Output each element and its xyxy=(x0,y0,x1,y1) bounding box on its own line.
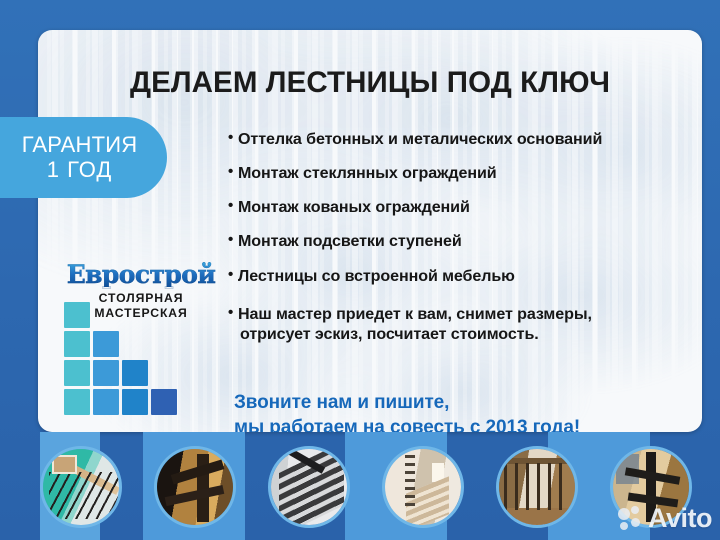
gallery-photo[interactable] xyxy=(382,446,464,528)
gallery-photo[interactable] xyxy=(154,446,236,528)
guarantee-badge-line1: ГАРАНТИЯ xyxy=(22,133,138,158)
advertisement-poster: ДЕЛАЕМ ЛЕСТНИЦЫ ПОД КЛЮЧ Оттелка бетонны… xyxy=(0,0,720,540)
call-to-action-line2: мы работаем на совесть с 2013 года! xyxy=(234,415,702,432)
list-item: Монтаж кованых ограждений xyxy=(228,198,698,218)
company-logo: Еврострой СТОЛЯРНАЯ МАСТЕРСКАЯ xyxy=(46,262,236,415)
list-item: Лестницы со встроенной мебелью xyxy=(228,267,698,287)
master-visit-note-line1: Наш мастер приедет к вам, снимет размеры… xyxy=(238,305,592,323)
list-item: Оттелка бетонных и металических основани… xyxy=(228,130,698,150)
gallery-photo[interactable] xyxy=(610,446,692,528)
gallery-photo[interactable] xyxy=(40,446,122,528)
page-title: ДЕЛАЕМ ЛЕСТНИЦЫ ПОД КЛЮЧ xyxy=(38,68,702,98)
call-to-action: Звоните нам и пишите, мы работаем на сов… xyxy=(234,390,702,432)
list-item: Монтаж стеклянных ограждений xyxy=(228,164,698,184)
call-to-action-line1: Звоните нам и пишите, xyxy=(234,390,702,415)
list-item: Монтаж подсветки ступеней xyxy=(228,232,698,252)
master-visit-note-line2: отрисует эскиз, посчитает стоимость. xyxy=(238,325,698,345)
gallery-photo[interactable] xyxy=(496,446,578,528)
stairs-blocks-icon xyxy=(64,329,186,415)
gallery-photo[interactable] xyxy=(268,446,350,528)
services-list: Оттелка бетонных и металических основани… xyxy=(228,130,698,344)
guarantee-badge-line2: 1 ГОД xyxy=(47,158,113,183)
logo-wordmark: Еврострой xyxy=(46,262,236,287)
master-visit-note: Наш мастер приедет к вам, снимет размеры… xyxy=(228,305,698,344)
guarantee-badge: ГАРАНТИЯ 1 ГОД xyxy=(0,117,167,198)
content-card: ДЕЛАЕМ ЛЕСТНИЦЫ ПОД КЛЮЧ Оттелка бетонны… xyxy=(38,30,702,432)
gallery-strip xyxy=(0,432,720,540)
